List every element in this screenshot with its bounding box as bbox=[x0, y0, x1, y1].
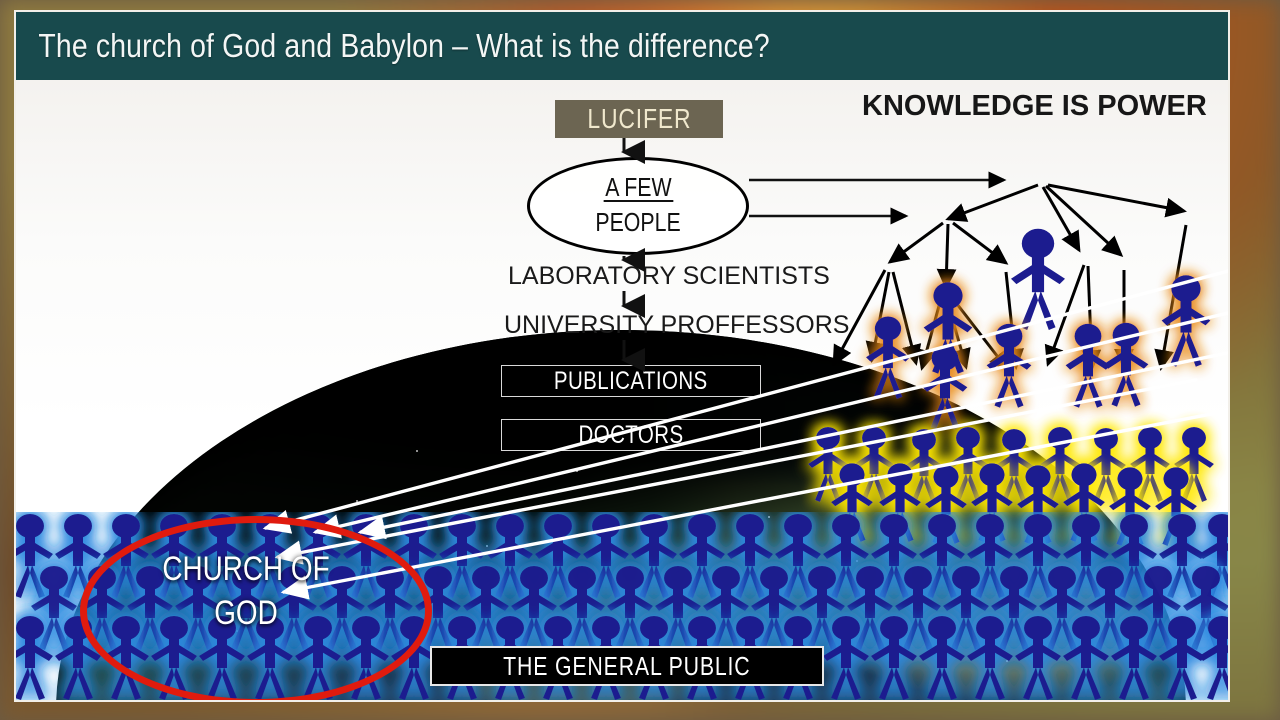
slide-surface: The church of God and Babylon – What is … bbox=[14, 10, 1230, 702]
general-public-label: THE GENERAL PUBLIC bbox=[503, 651, 750, 682]
general-public-box: THE GENERAL PUBLIC bbox=[430, 646, 824, 686]
church-of-god-highlight-ring bbox=[80, 516, 432, 702]
slide-title-bar: The church of God and Babylon – What is … bbox=[16, 12, 1228, 80]
page-title: The church of God and Babylon – What is … bbox=[16, 27, 770, 65]
diagram-canvas: LUCIFER A FEW PEOPLE LABORATORY SCIENTIS… bbox=[16, 80, 1230, 702]
knowledge-is-power-heading: KNOWLEDGE IS POWER bbox=[862, 90, 1207, 123]
